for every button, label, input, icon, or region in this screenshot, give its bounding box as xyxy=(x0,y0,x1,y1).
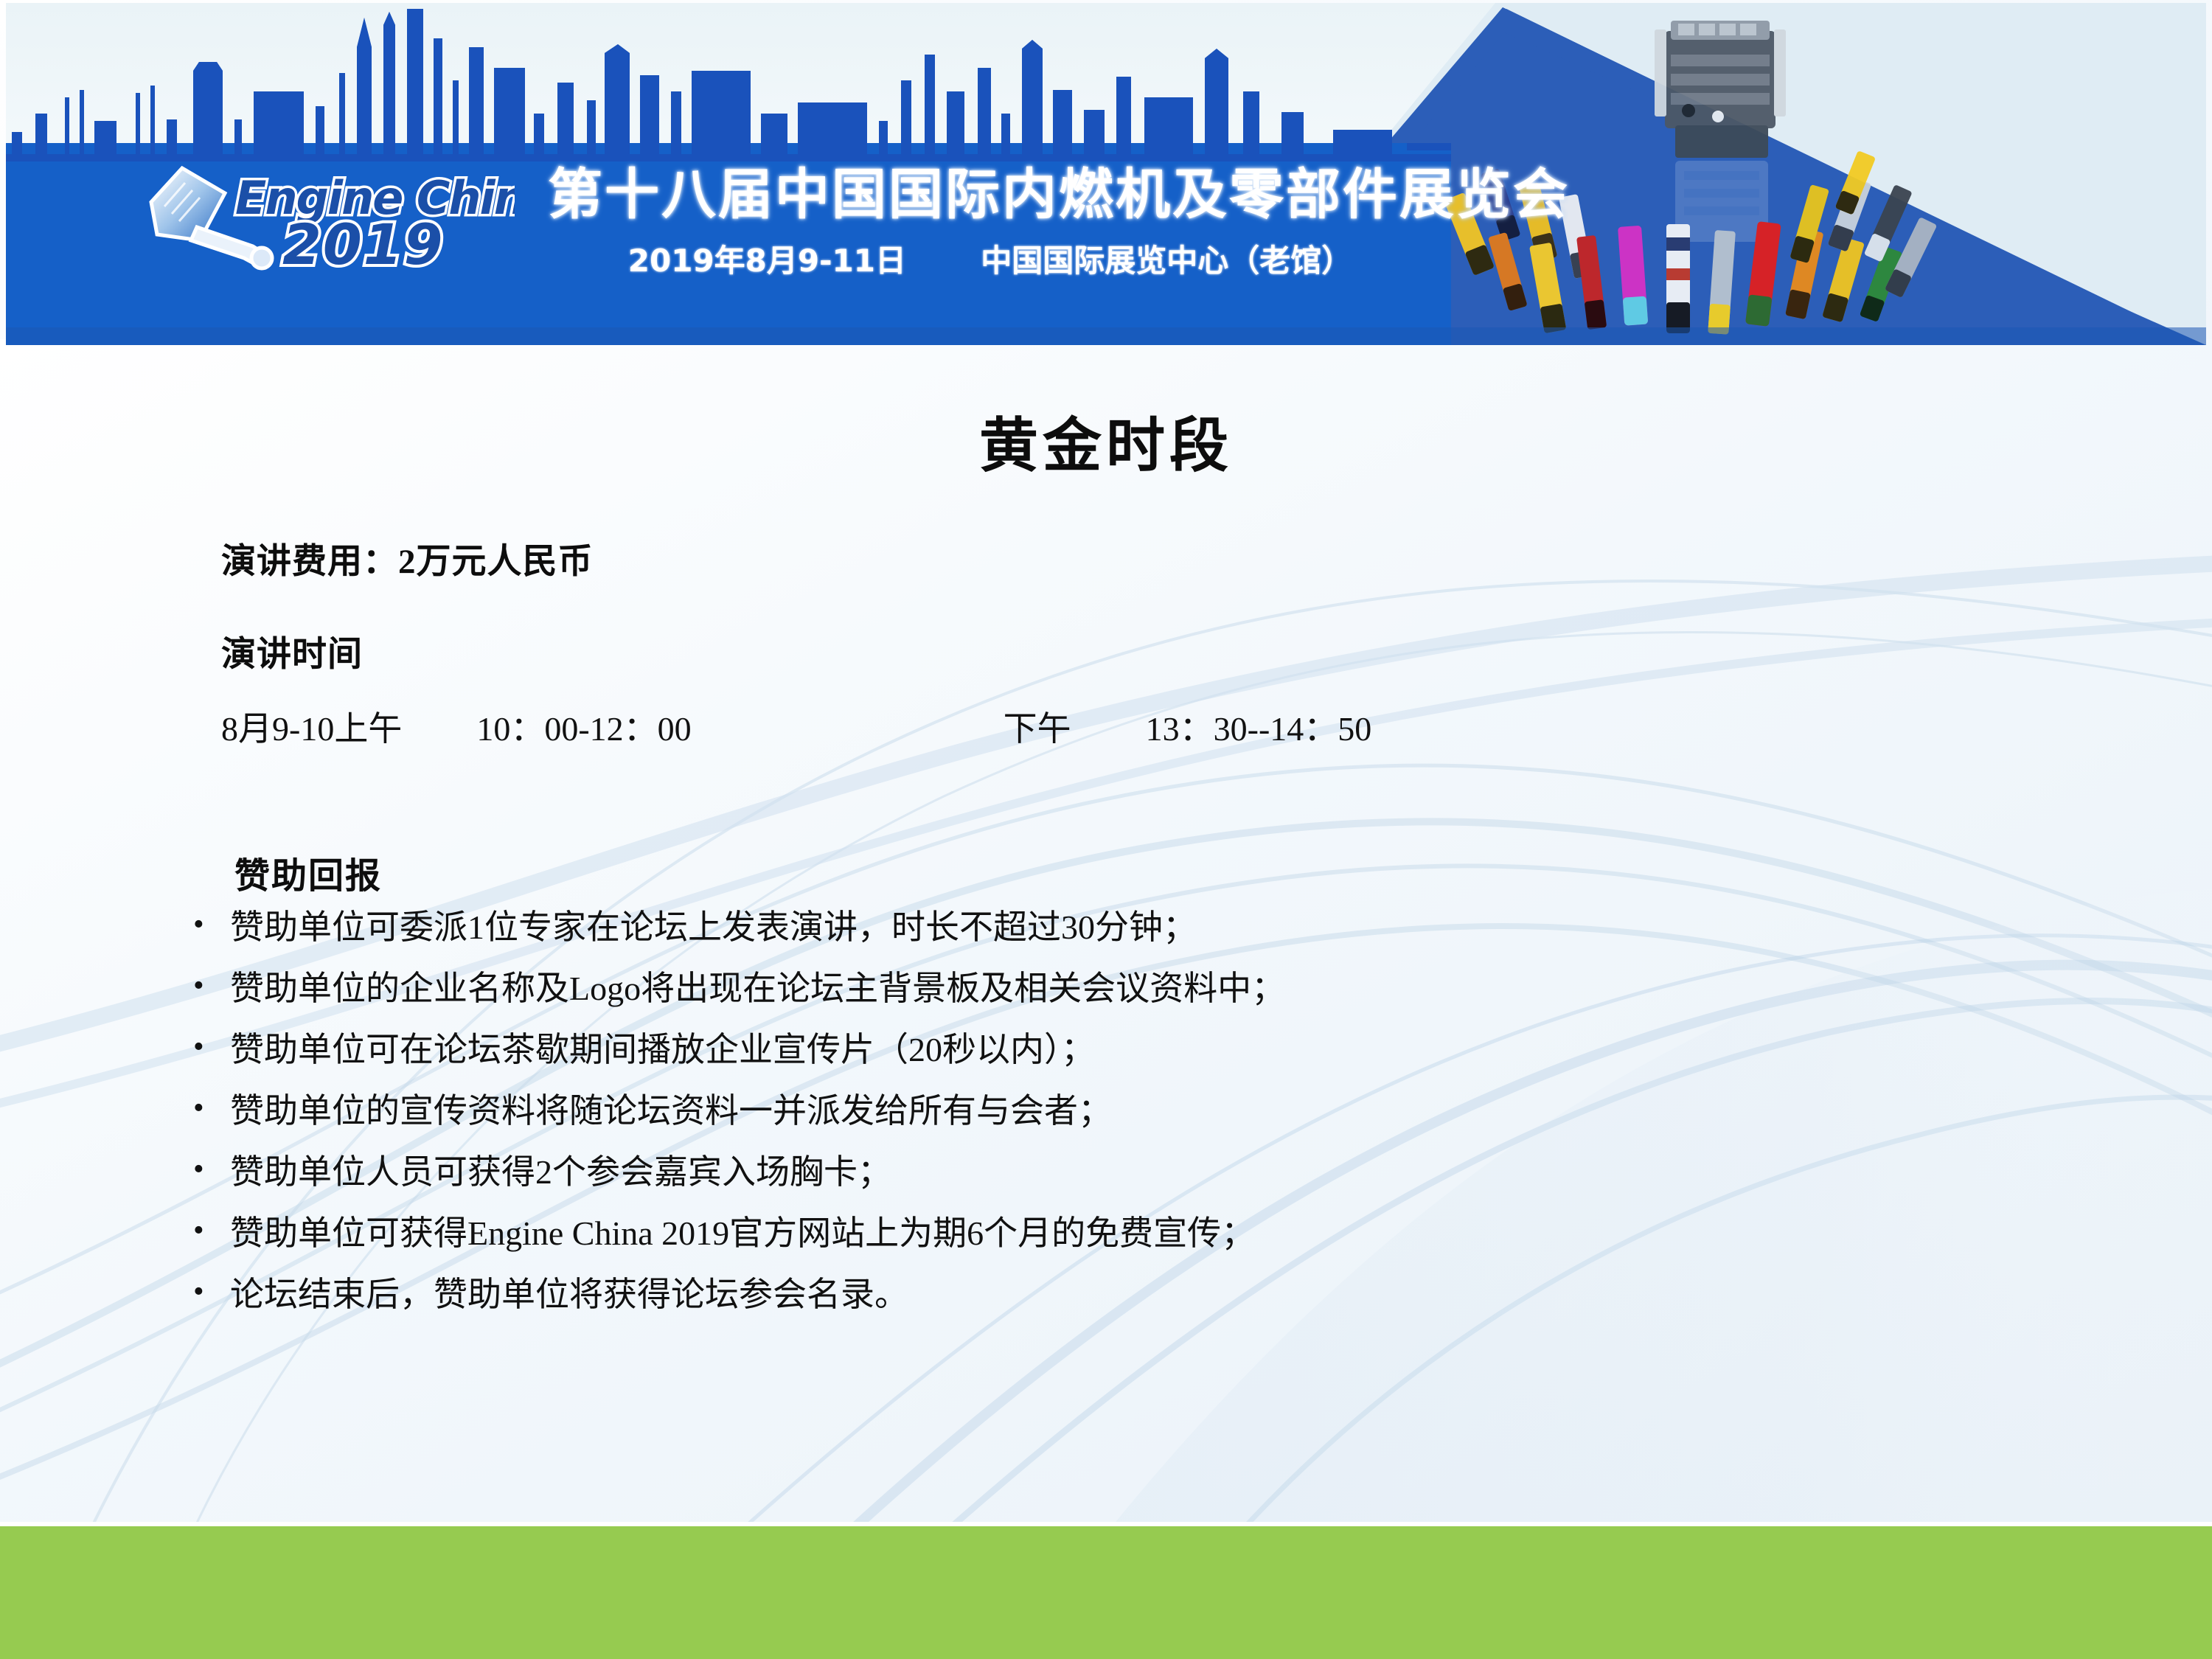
banner-venue: 中国国际展览中心（老馆） xyxy=(981,243,1352,279)
morning-prefix: 8月9-10上午 xyxy=(221,710,402,748)
speaking-time-values: 8月9-10上午 10：00-12：00 下午 13：30--14：50 xyxy=(221,702,1991,751)
engine-china-logo: Engine China 2019 xyxy=(142,164,515,271)
list-item-text: 赞助单位的企业名称及Logo将出现在论坛主背景板及相关会议资料中； xyxy=(230,970,1285,1007)
list-item: • 赞助单位可获得Engine China 2019官方网站上为期6个月的免费宣… xyxy=(184,1217,2101,1251)
bullet-icon: • xyxy=(193,1276,204,1307)
banner-text-block: 第十八届中国国际内燃机及零部件展览会 2019年8月9-11日 中国国际展览中心… xyxy=(548,167,1433,281)
page-title: 黄金时段 xyxy=(0,398,2212,484)
banner-date: 2019年8月9-11日 xyxy=(628,243,906,279)
footer-green-band xyxy=(0,1526,2212,1659)
list-item-text: 赞助单位可在论坛茶歇期间播放企业宣传片（20秒以内）； xyxy=(230,1031,1095,1068)
sponsor-rewards-list: • 赞助单位可委派1位专家在论坛上发表演讲，时长不超过30分钟； • 赞助单位的… xyxy=(184,911,2101,1339)
afternoon-range: 13：30--14：50 xyxy=(1146,710,1372,748)
list-item: • 赞助单位的宣传资料将随论坛资料一并派发给所有与会者； xyxy=(184,1094,2101,1128)
slide: Engine China 2019 第十八届中国国际内燃机及零部件展览会 201… xyxy=(0,0,2212,1659)
list-item: • 论坛结束后，赞助单位将获得论坛参会名录。 xyxy=(184,1278,2101,1312)
bullet-icon: • xyxy=(193,970,204,1001)
list-item-text: 赞助单位可获得Engine China 2019官方网站上为期6个月的免费宣传； xyxy=(230,1214,1255,1252)
bullet-icon: • xyxy=(193,1215,204,1246)
banner-subtitle: 2019年8月9-11日 中国国际展览中心（老馆） xyxy=(548,236,1433,281)
bullet-icon: • xyxy=(193,1093,204,1124)
logo-year-text: 2019 xyxy=(282,212,445,271)
list-item-text: 赞助单位可委派1位专家在论坛上发表演讲，时长不超过30分钟； xyxy=(230,908,1197,946)
sponsor-rewards-title: 赞助回报 xyxy=(234,846,382,898)
list-item: • 赞助单位的企业名称及Logo将出现在论坛主背景板及相关会议资料中； xyxy=(184,972,2101,1006)
list-item-text: 赞助单位的宣传资料将随论坛资料一并派发给所有与会者； xyxy=(230,1092,1112,1130)
afternoon-label: 下午 xyxy=(1004,710,1071,748)
bullet-icon: • xyxy=(193,1032,204,1062)
list-item-text: 论坛结束后，赞助单位将获得论坛参会名录。 xyxy=(230,1276,908,1313)
list-item: • 赞助单位可委派1位专家在论坛上发表演讲，时长不超过30分钟； xyxy=(184,911,2101,945)
list-item-text: 赞助单位人员可获得2个参会嘉宾入场胸卡； xyxy=(230,1153,891,1191)
speaking-fee-line: 演讲费用：2万元人民币 xyxy=(221,532,594,583)
banner-title: 第十八届中国国际内燃机及零部件展览会 xyxy=(548,167,1433,224)
bullet-icon: • xyxy=(193,909,204,940)
speaking-time-label: 演讲时间 xyxy=(221,625,363,676)
morning-range: 10：00-12：00 xyxy=(476,710,691,748)
event-banner: Engine China 2019 第十八届中国国际内燃机及零部件展览会 201… xyxy=(6,3,2206,345)
list-item: • 赞助单位可在论坛茶歇期间播放企业宣传片（20秒以内）； xyxy=(184,1033,2101,1067)
list-item: • 赞助单位人员可获得2个参会嘉宾入场胸卡； xyxy=(184,1155,2101,1189)
bullet-icon: • xyxy=(193,1154,204,1185)
